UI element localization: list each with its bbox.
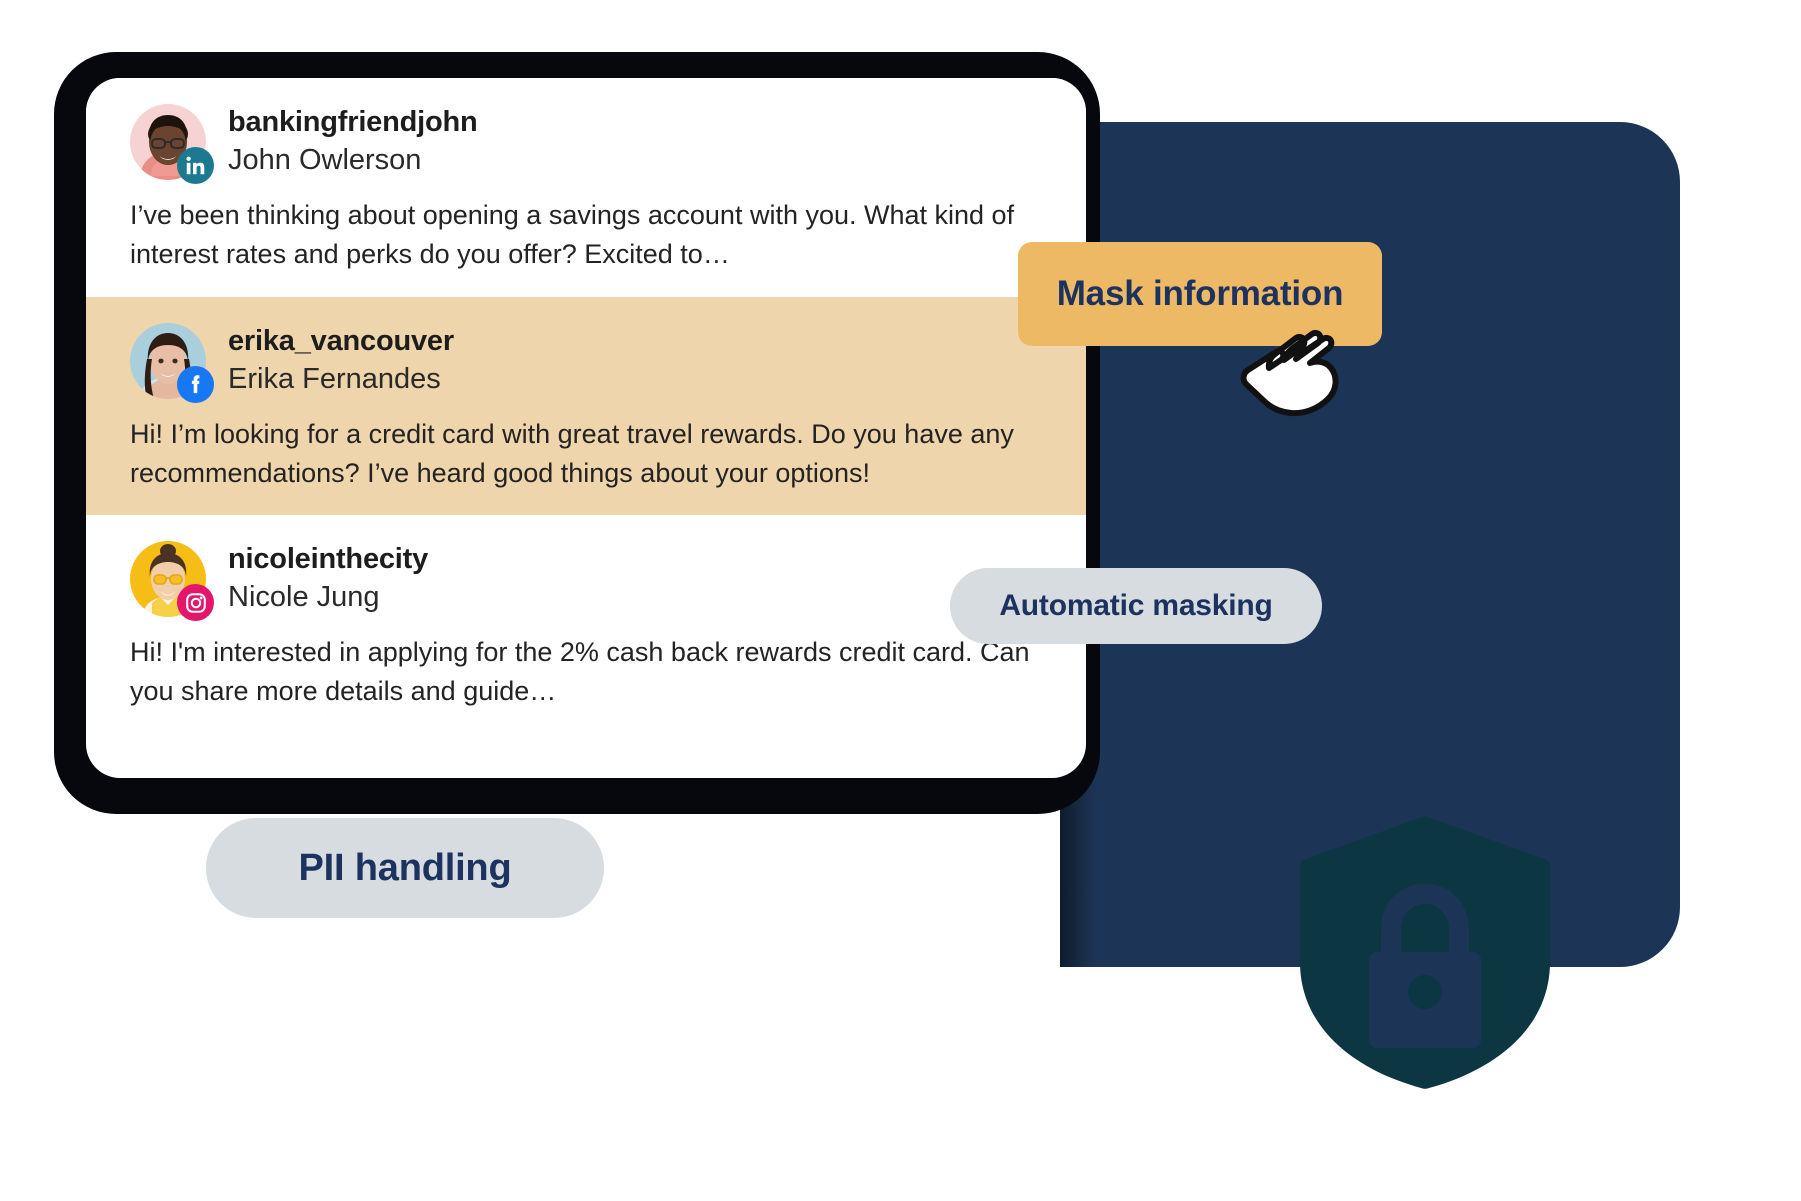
message-text: Hi! I'm interested in applying for the 2… [130, 633, 1030, 711]
message-text: I’ve been thinking about opening a savin… [130, 196, 1030, 274]
message-handle: nicoleinthecity [228, 541, 428, 578]
illustration-canvas: bankingfriendjohn John Owlerson I’ve bee… [0, 0, 1801, 1201]
shield-lock-icon [1295, 812, 1555, 1092]
message-item[interactable]: nicoleinthecity Nicole Jung Hi! I'm inte… [86, 515, 1086, 734]
avatar [130, 541, 206, 617]
facebook-icon [177, 366, 214, 403]
message-item[interactable]: erika_vancouver Erika Fernandes Hi! I’m … [86, 297, 1086, 516]
message-names: erika_vancouver Erika Fernandes [228, 323, 454, 399]
message-fullname: Erika Fernandes [228, 360, 454, 399]
message-handle: bankingfriendjohn [228, 104, 478, 141]
automatic-masking-badge[interactable]: Automatic masking [950, 568, 1322, 644]
message-header: erika_vancouver Erika Fernandes [130, 323, 1042, 399]
avatar [130, 323, 206, 399]
avatar [130, 104, 206, 180]
message-names: bankingfriendjohn John Owlerson [228, 104, 478, 180]
message-text: Hi! I’m looking for a credit card with g… [130, 415, 1030, 493]
message-header: nicoleinthecity Nicole Jung [130, 541, 1042, 617]
pii-handling-badge[interactable]: PII handling [206, 818, 604, 918]
message-handle: erika_vancouver [228, 323, 454, 360]
pointing-hand-cursor [1238, 318, 1348, 422]
message-fullname: Nicole Jung [228, 578, 428, 617]
message-header: bankingfriendjohn John Owlerson [130, 104, 1042, 180]
linkedin-icon [177, 147, 214, 184]
message-names: nicoleinthecity Nicole Jung [228, 541, 428, 617]
instagram-icon [177, 584, 214, 621]
messages-card: bankingfriendjohn John Owlerson I’ve bee… [86, 78, 1086, 778]
message-fullname: John Owlerson [228, 141, 478, 180]
message-item[interactable]: bankingfriendjohn John Owlerson I’ve bee… [86, 78, 1086, 297]
